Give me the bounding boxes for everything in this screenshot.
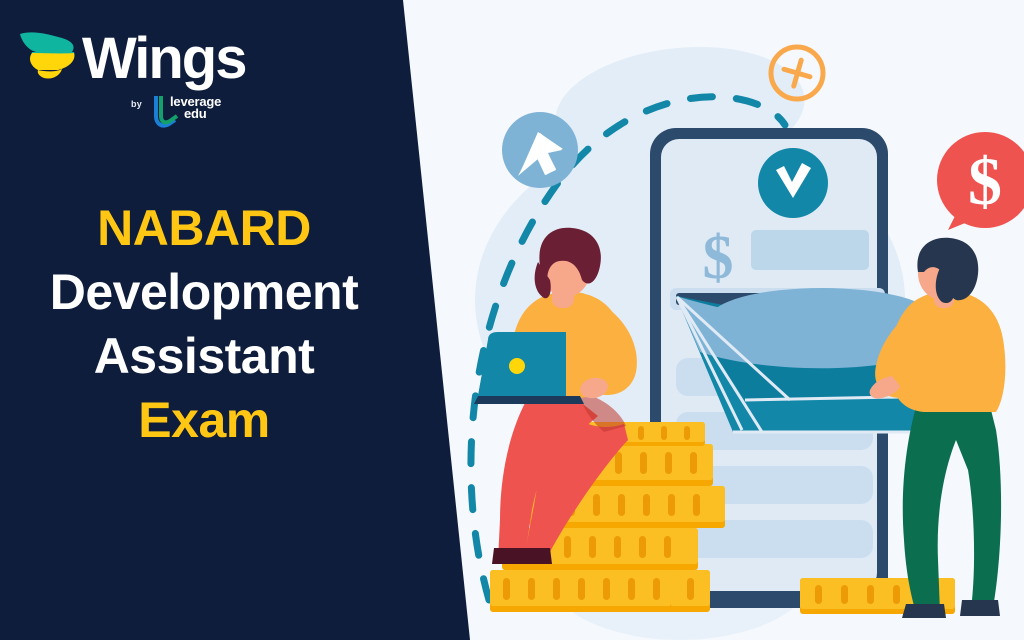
banner-canvas: $ xyxy=(0,0,1024,640)
check-badge-icon xyxy=(758,148,828,218)
partner-line-2: edu xyxy=(184,108,221,120)
title-line-2: Development xyxy=(0,260,408,324)
svg-text:$: $ xyxy=(968,143,1002,219)
dollar-sign-label: $ xyxy=(703,224,734,292)
title-line-3: Assistant xyxy=(0,324,408,388)
input-bar xyxy=(751,230,869,270)
cursor-arrow-badge xyxy=(502,112,578,188)
partner-name: leverage edu xyxy=(170,96,221,120)
page-title: NABARD Development Assistant Exam xyxy=(0,196,408,452)
title-line-4: Exam xyxy=(0,388,408,452)
title-line-1: NABARD xyxy=(0,196,408,260)
brand-logo[interactable]: Wings by leverage edu xyxy=(18,22,238,122)
wing-icon xyxy=(18,26,80,84)
brand-name: Wings xyxy=(82,30,245,88)
logo-by-label: by xyxy=(131,99,142,109)
